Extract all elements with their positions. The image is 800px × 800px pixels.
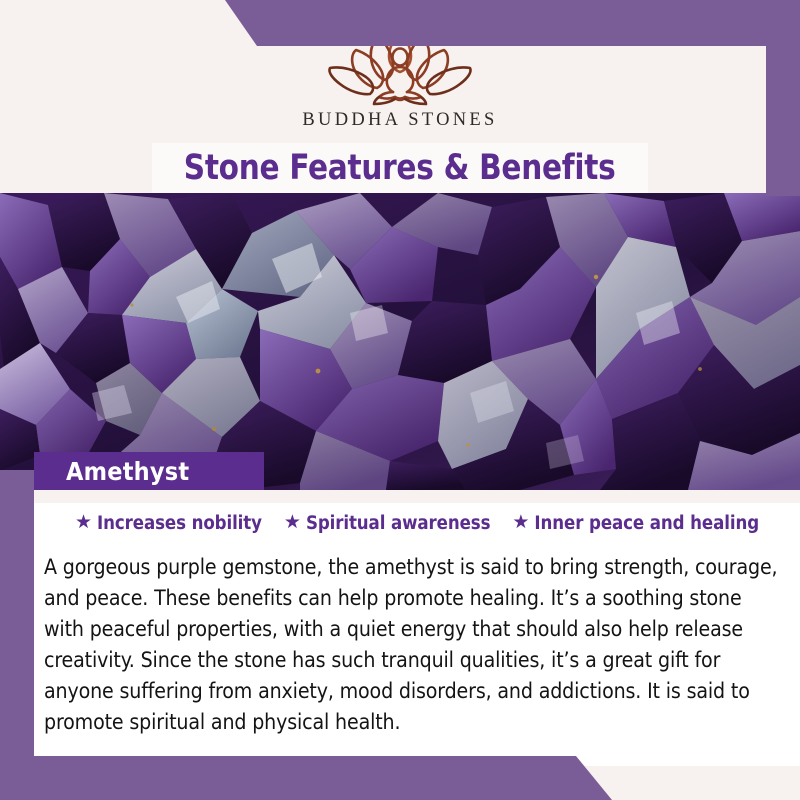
feature-label-2: Inner peace and healing [534, 513, 759, 534]
frame-left-accent [0, 470, 34, 800]
star-icon: ★ [284, 513, 301, 532]
page-title-band: Stone Features & Benefits [152, 143, 648, 193]
star-icon: ★ [75, 513, 92, 532]
content-panel: ★ Increases nobility ★ Spiritual awarene… [34, 490, 800, 766]
feature-item-2: ★ Inner peace and healing [512, 513, 759, 534]
stone-description: A gorgeous purple gemstone, the amethyst… [44, 552, 779, 738]
stone-name-label: Amethyst [66, 457, 189, 486]
stone-info-poster: BUDDHA STONES Stone Features & Benefits … [0, 0, 800, 800]
page-title: Stone Features & Benefits [184, 148, 616, 188]
star-icon: ★ [512, 513, 529, 532]
feature-label-0: Increases nobility [97, 513, 262, 534]
frame-right-accent [766, 0, 800, 196]
hero-image [0, 193, 800, 490]
feature-item-1: ★ Spiritual awareness [284, 513, 490, 534]
amethyst-crystal-cluster-photo [0, 193, 800, 490]
stone-name-badge: Amethyst [34, 452, 264, 490]
feature-label-1: Spiritual awareness [306, 513, 490, 534]
content-top-gap [34, 490, 800, 503]
feature-list: ★ Increases nobility ★ Spiritual awarene… [34, 513, 800, 534]
feature-item-0: ★ Increases nobility [75, 513, 262, 534]
brand-name: BUDDHA STONES [302, 110, 497, 131]
